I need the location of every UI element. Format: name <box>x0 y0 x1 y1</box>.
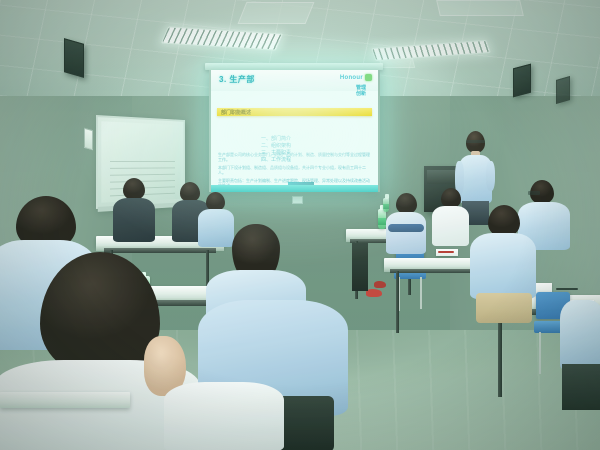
red-shoe <box>374 281 386 288</box>
pen-red[interactable] <box>438 251 454 253</box>
attendee-head <box>40 252 160 376</box>
attendee-legs-dark <box>352 243 368 291</box>
slide-highlight-bar: 部门职能概述 <box>217 108 372 116</box>
speaker-right-wall <box>513 64 531 98</box>
desk-foreground <box>0 392 130 408</box>
slide-title: 3. 生产部 <box>219 74 255 85</box>
speaker-left-wall <box>64 38 84 78</box>
attendee-torso <box>432 206 469 246</box>
desk-leg <box>498 313 502 397</box>
attendee-torso <box>560 300 600 370</box>
attendee-torso <box>470 233 536 299</box>
screen-bottom-edge <box>211 185 378 192</box>
eyeglasses-icon <box>466 140 485 143</box>
attendee-far-right-foreground <box>560 300 600 410</box>
logo-text: Honour <box>340 75 363 81</box>
attendee-torso <box>113 198 155 242</box>
slide-highlight-bar-label: 部门职能概述 <box>221 109 251 116</box>
bottle-label <box>378 218 386 225</box>
chair-leg <box>539 332 541 374</box>
attendee-head <box>441 188 461 208</box>
classroom-photo: 3. 生产部 Honour 管理 创新 部门职能概述 一、部门简介 二、组织架构… <box>0 0 600 450</box>
attendee-torso <box>164 382 284 450</box>
slide-paragraph: 本部门下设计划组、制造组、品质组与设备组，共计四个专业小组，现有员工四十二人。 <box>218 165 371 175</box>
air-vent-rear-left <box>238 2 315 24</box>
water-bottle-mid[interactable] <box>378 209 386 229</box>
wall-outlet <box>292 196 303 204</box>
pen-black[interactable] <box>556 288 578 290</box>
attendee-head <box>396 193 417 214</box>
air-vent-rear-right <box>436 0 524 16</box>
attendee-head <box>123 178 145 200</box>
attendee-mid-right-white <box>432 188 470 244</box>
slide-subtitle-group: 管理 创新 <box>356 85 366 97</box>
attendee-front-left-dark <box>112 178 156 240</box>
logo-mark-icon <box>365 74 372 81</box>
attendee-striped-shirt <box>386 193 426 263</box>
slide-bullet: 二、组织架构 <box>261 143 338 150</box>
attendee-torso <box>386 212 426 254</box>
attendee-head <box>180 182 200 202</box>
desk-leg <box>396 271 399 333</box>
attendee-right-khaki <box>466 205 538 323</box>
chair-leg <box>420 277 422 309</box>
company-logo: Honour <box>340 74 372 81</box>
attendee-foreground-far <box>164 382 284 450</box>
slide-paragraph: 生产部是公司的核心业务部门，负责产品的计划、制造、质量控制与交付等全过程管理工作… <box>218 152 371 162</box>
slide-subtitle-line-2: 创新 <box>356 91 366 97</box>
water-bottle-back[interactable] <box>383 198 389 212</box>
projection-screen-housing <box>205 63 383 70</box>
presenter-arm-right <box>486 161 495 191</box>
desk-surface <box>0 392 130 408</box>
red-shoe <box>366 289 382 297</box>
wall-switch-plate[interactable] <box>84 128 93 150</box>
bottle-label <box>383 204 389 209</box>
presentation-slide: 3. 生产部 Honour 管理 创新 部门职能概述 一、部门简介 二、组织架构… <box>211 70 378 192</box>
attendee-khaki-trousers <box>476 293 532 323</box>
slide-bullet: 一、部门简介 <box>261 136 338 143</box>
eyeglasses-icon <box>528 191 540 195</box>
projection-screen[interactable]: 3. 生产部 Honour 管理 创新 部门职能概述 一、部门简介 二、组织架构… <box>209 70 380 192</box>
speaker-right-rear <box>556 76 570 104</box>
attendee-trousers <box>562 364 600 410</box>
